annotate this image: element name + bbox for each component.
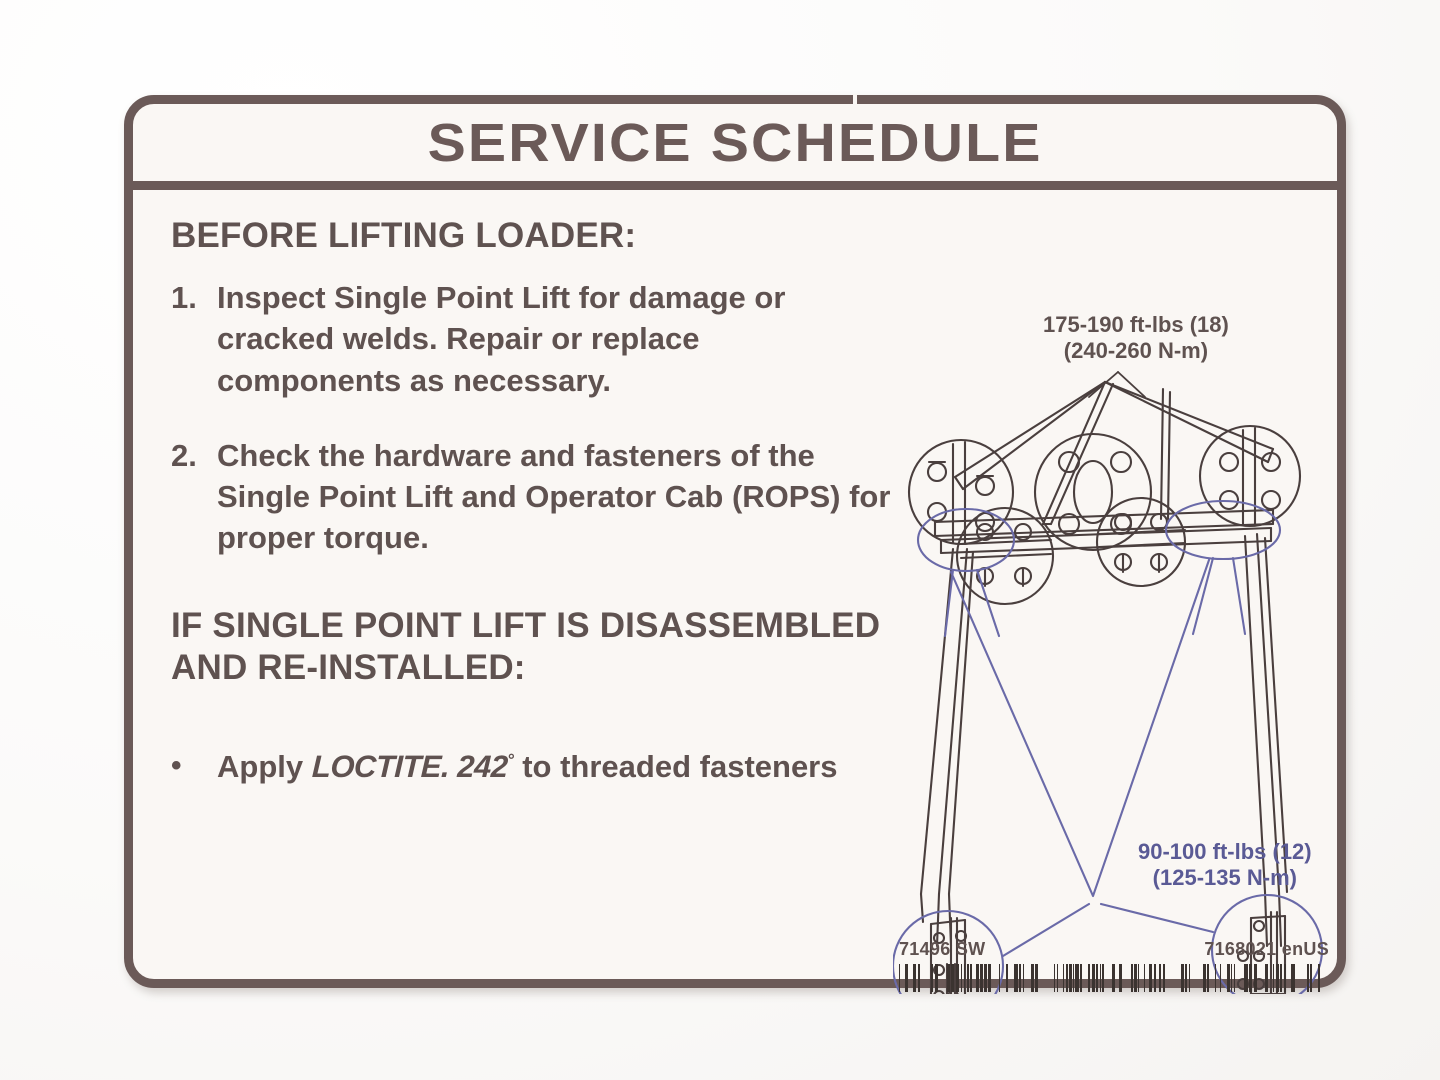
footer-part-codes: 71496 SW 7168021 enUS xyxy=(899,939,1329,960)
top-border-notch xyxy=(853,94,857,106)
step-1-text: Inspect Single Point Lift for damage or … xyxy=(217,277,891,401)
instruction-step-1: 1. Inspect Single Point Lift for damage … xyxy=(171,277,891,401)
page-title: SERVICE SCHEDULE xyxy=(428,112,1043,174)
step-2-number: 2. xyxy=(171,435,217,559)
bullet-marker: • xyxy=(171,746,217,787)
service-schedule-placard: SERVICE SCHEDULE BEFORE LIFTING LOADER: … xyxy=(124,95,1346,988)
loctite-prefix: Apply xyxy=(217,749,312,784)
loctite-bullet-item: • Apply LOCTITE. 242° to threaded fasten… xyxy=(171,746,891,787)
placard-title-bar: SERVICE SCHEDULE xyxy=(133,104,1337,190)
loctite-bullet-text: Apply LOCTITE. 242° to threaded fastener… xyxy=(217,746,891,787)
step-2-text: Check the hardware and fasteners of the … xyxy=(217,435,891,559)
left-lift-leg xyxy=(921,549,973,946)
barcode xyxy=(899,964,1323,992)
heading-before-lifting-loader: BEFORE LIFTING LOADER: xyxy=(171,216,891,255)
placard-footer: 71496 SW 7168021 enUS xyxy=(899,939,1329,992)
torque-spec-top: 175-190 ft-lbs (18) (240-260 N-m) xyxy=(1043,312,1229,363)
loctite-logo: LOCTITE. 242° xyxy=(311,746,514,787)
loctite-brand: LOCTITE. xyxy=(311,749,449,784)
step-1-number: 1. xyxy=(171,277,217,401)
leader-lines-top xyxy=(1089,372,1145,397)
single-point-lift-diagram: 175-190 ft-lbs (18) (240-260 N-m) 90-100… xyxy=(893,204,1343,984)
instructions-column: BEFORE LIFTING LOADER: 1. Inspect Single… xyxy=(171,216,891,787)
registered-mark: ° xyxy=(507,751,514,770)
torque-spec-top-line1: 175-190 ft-lbs (18) xyxy=(1043,312,1229,338)
torque-spec-bottom-line1: 90-100 ft-lbs (12) xyxy=(1138,839,1312,865)
heading-if-disassembled: IF SINGLE POINT LIFT IS DISASSEMBLED AND… xyxy=(171,605,891,690)
torque-spec-bottom-line2: (125-135 N-m) xyxy=(1138,865,1312,891)
torque-spec-bottom: 90-100 ft-lbs (12) (125-135 N-m) xyxy=(1138,839,1312,890)
torque-spec-top-line2: (240-260 N-m) xyxy=(1043,338,1229,364)
part-number-left: 71496 SW xyxy=(899,939,985,960)
instruction-step-2: 2. Check the hardware and fasteners of t… xyxy=(171,435,891,559)
loctite-grade: 242 xyxy=(456,749,507,784)
part-number-right: 7168021 enUS xyxy=(1204,939,1329,960)
loctite-suffix: to threaded fasteners xyxy=(514,749,838,784)
callout-circle-upper-left xyxy=(909,440,1013,544)
